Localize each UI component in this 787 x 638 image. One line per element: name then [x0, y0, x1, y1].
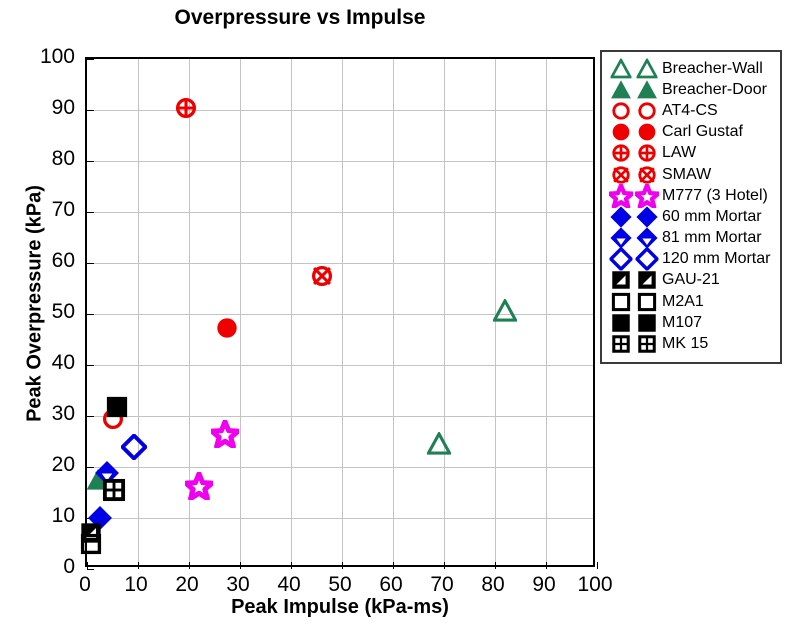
data-point-m777-3-hotel	[211, 420, 239, 448]
x-axis-tick	[495, 562, 496, 569]
x-axis-tick	[291, 562, 292, 569]
gridline-vertical	[138, 59, 139, 565]
legend-item-120-mm-mortar[interactable]: 120 mm Mortar	[608, 249, 776, 270]
chart-legend: Breacher-WallBreacher-DoorAT4-CSCarl Gus…	[600, 50, 782, 364]
legend-item-label: M777 (3 Hotel)	[660, 187, 768, 205]
x-axis-tick	[546, 562, 547, 569]
x-axis-tick	[189, 562, 190, 569]
data-point-m107	[106, 396, 128, 418]
gridline-vertical	[393, 59, 394, 565]
x-axis-tick	[87, 562, 88, 569]
x-axis-tick	[444, 562, 445, 569]
legend-item-label: Breacher-Door	[660, 81, 767, 99]
data-point-m777-3-hotel	[185, 472, 213, 500]
x-axis-tick	[240, 562, 241, 569]
legend-item-carl-gustaf[interactable]: Carl Gustaf	[608, 122, 776, 143]
x-axis-tick	[138, 562, 139, 569]
gridline-horizontal	[87, 212, 593, 213]
legend-marker-star-open-icon	[608, 185, 660, 206]
y-tick-label: 30	[29, 402, 75, 426]
chart-figure: Overpressure vs Impulse Peak Overpressur…	[0, 0, 787, 638]
legend-item-at4-cs[interactable]: AT4-CS	[608, 100, 776, 121]
gridline-horizontal	[87, 365, 593, 366]
plot-area	[85, 57, 595, 567]
legend-item-81-mm-mortar[interactable]: 81 mm Mortar	[608, 228, 776, 249]
gridline-horizontal	[87, 263, 593, 264]
legend-item-breacher-door[interactable]: Breacher-Door	[608, 79, 776, 100]
legend-item-label: 81 mm Mortar	[660, 229, 762, 247]
legend-item-label: M107	[660, 314, 702, 332]
legend-swatch-glyph	[609, 184, 633, 208]
gridline-vertical	[546, 59, 547, 565]
legend-swatch-glyph	[610, 205, 633, 228]
legend-marker-circle-open-icon	[608, 100, 660, 121]
y-axis-tick	[87, 110, 94, 111]
x-axis-tick	[393, 562, 394, 569]
legend-item-m777-3-hotel[interactable]: M777 (3 Hotel)	[608, 185, 776, 206]
legend-swatch-glyph	[637, 79, 658, 100]
legend-swatch-glyph	[636, 205, 659, 228]
legend-swatch-glyph	[612, 165, 631, 184]
legend-item-label: MK 15	[660, 335, 708, 353]
legend-item-smaw[interactable]: SMAW	[608, 164, 776, 185]
legend-item-60-mm-mortar[interactable]: 60 mm Mortar	[608, 206, 776, 227]
y-tick-label: 20	[29, 453, 75, 477]
data-point-carl-gustaf	[216, 317, 238, 339]
legend-item-breacher-wall[interactable]: Breacher-Wall	[608, 58, 776, 79]
y-axis-tick	[87, 59, 94, 60]
y-tick-label: 60	[29, 249, 75, 273]
legend-marker-circle-plus-icon	[608, 143, 660, 164]
y-tick-label: 40	[29, 351, 75, 375]
data-point-breacher-wall	[493, 299, 517, 323]
y-axis-tick	[87, 263, 94, 264]
y-axis-tick	[87, 569, 94, 570]
legend-swatch-glyph	[612, 271, 631, 290]
legend-marker-square-grid-icon	[608, 334, 660, 355]
gridline-horizontal	[87, 110, 593, 111]
legend-swatch-glyph	[610, 227, 633, 250]
gridline-horizontal	[87, 467, 593, 468]
legend-swatch-glyph	[612, 335, 631, 354]
legend-item-label: LAW	[660, 144, 696, 162]
legend-swatch-glyph	[612, 101, 631, 120]
x-axis-title: Peak Impulse (kPa-ms)	[85, 596, 595, 619]
legend-swatch-glyph	[637, 58, 658, 79]
y-tick-label: 90	[29, 96, 75, 120]
y-tick-label: 10	[29, 504, 75, 528]
legend-marker-diamond-open-icon	[608, 249, 660, 270]
y-axis-tick	[87, 416, 94, 417]
legend-swatch-glyph	[638, 313, 657, 332]
legend-marker-circle-filled-icon	[608, 122, 660, 143]
legend-marker-triangle-filled-icon	[608, 79, 660, 100]
gridline-vertical	[291, 59, 292, 565]
legend-marker-triangle-open-icon	[608, 58, 660, 79]
legend-item-mk-15[interactable]: MK 15	[608, 333, 776, 354]
legend-item-label: 60 mm Mortar	[660, 208, 762, 226]
legend-item-label: SMAW	[660, 166, 711, 184]
gridline-vertical	[342, 59, 343, 565]
legend-marker-square-tri-icon	[608, 270, 660, 291]
gridline-horizontal	[87, 161, 593, 162]
data-point-mk-15	[102, 478, 126, 502]
legend-marker-square-open-icon	[608, 291, 660, 312]
legend-swatch-glyph	[636, 248, 659, 271]
gridline-vertical	[240, 59, 241, 565]
legend-swatch-glyph	[611, 79, 632, 100]
y-axis-tick	[87, 161, 94, 162]
legend-marker-square-filled-icon	[608, 312, 660, 333]
legend-swatch-glyph	[612, 123, 631, 142]
legend-swatch-glyph	[612, 292, 631, 311]
data-point-smaw	[311, 265, 333, 287]
legend-swatch-glyph	[638, 335, 657, 354]
legend-item-label: Carl Gustaf	[660, 123, 743, 141]
gridline-horizontal	[87, 416, 593, 417]
x-axis-tick	[342, 562, 343, 569]
y-tick-label: 50	[29, 300, 75, 324]
x-tick-label: 100	[565, 573, 625, 597]
chart-title: Overpressure vs Impulse	[0, 6, 600, 30]
data-point-m2a1	[81, 533, 102, 554]
y-tick-label: 100	[29, 45, 75, 69]
legend-item-m2a1[interactable]: M2A1	[608, 291, 776, 312]
y-axis-tick	[87, 314, 94, 315]
legend-item-label: M2A1	[660, 293, 704, 311]
legend-swatch-glyph	[610, 248, 633, 271]
legend-swatch-glyph	[612, 144, 631, 163]
legend-item-m107[interactable]: M107	[608, 312, 776, 333]
legend-swatch-glyph	[635, 184, 659, 208]
legend-item-law[interactable]: LAW	[608, 143, 776, 164]
y-axis-tick	[87, 365, 94, 366]
legend-swatch-glyph	[638, 271, 657, 290]
x-axis-tick	[597, 562, 598, 569]
legend-swatch-glyph	[638, 144, 657, 163]
y-tick-label: 80	[29, 147, 75, 171]
gridline-vertical	[444, 59, 445, 565]
legend-marker-diamond-tri-icon	[608, 228, 660, 249]
legend-swatch-glyph	[612, 313, 631, 332]
legend-swatch-glyph	[638, 292, 657, 311]
legend-marker-circle-cross-icon	[608, 164, 660, 185]
legend-item-label: 120 mm Mortar	[660, 250, 770, 268]
gridline-horizontal	[87, 518, 593, 519]
legend-item-label: Breacher-Wall	[660, 60, 763, 78]
legend-swatch-glyph	[636, 227, 659, 250]
legend-swatch-glyph	[638, 165, 657, 184]
y-axis-tick	[87, 212, 94, 213]
data-point-breacher-wall	[427, 432, 451, 456]
legend-swatch-glyph	[638, 123, 657, 142]
legend-marker-diamond-filled-icon	[608, 206, 660, 227]
data-point-law	[175, 97, 197, 119]
legend-swatch-glyph	[638, 101, 657, 120]
legend-item-gau-21[interactable]: GAU-21	[608, 270, 776, 291]
y-tick-label: 70	[29, 198, 75, 222]
legend-item-label: GAU-21	[660, 271, 720, 289]
legend-swatch-glyph	[611, 58, 632, 79]
data-point-120-mm-mortar	[121, 434, 147, 460]
legend-item-label: AT4-CS	[660, 102, 718, 120]
